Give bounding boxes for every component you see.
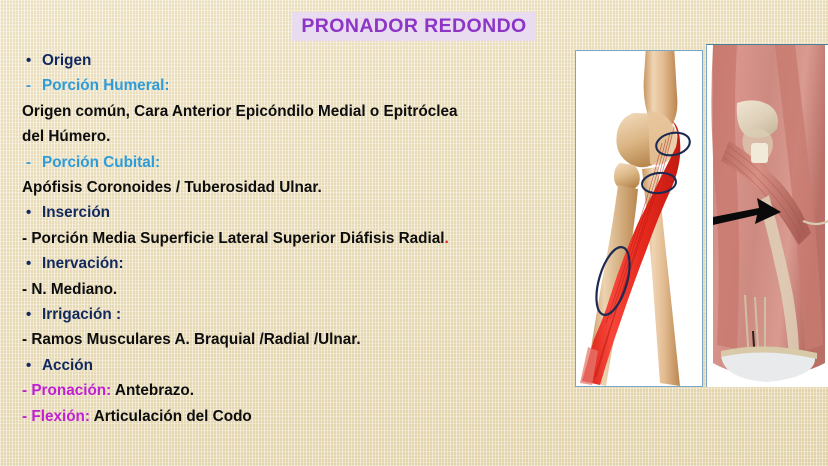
accion-flexion-label: - Flexión: — [22, 408, 90, 425]
text-accion-flexion: - Flexión: Articulación del Codo — [22, 404, 562, 429]
bone-diagram-svg — [576, 51, 702, 386]
body-text-accent-period: . — [444, 230, 448, 247]
text-inervacion-detail: - N. Mediano. — [22, 277, 562, 302]
forearm-dissection-photo — [706, 44, 828, 387]
list-item-label: Porción Humeral: — [42, 77, 170, 94]
page-title: PRONADOR REDONDO — [292, 12, 535, 41]
dissection-photo-svg — [707, 45, 828, 386]
bullet-dot-icon: • — [26, 302, 31, 327]
list-item-irrigacion: • Irrigación : — [22, 302, 562, 327]
body-text: - Ramos Musculares A. Braquial /Radial /… — [22, 331, 361, 348]
list-item-label: Inserción — [42, 204, 110, 221]
content-text-block: • Origen - Porción Humeral: Origen común… — [22, 48, 562, 429]
list-item-insercion: • Inserción — [22, 200, 562, 225]
bullet-dash-icon: - — [26, 73, 31, 98]
list-item-porcion-humeral: - Porción Humeral: — [22, 73, 562, 98]
list-item-inervacion: • Inervación: — [22, 251, 562, 276]
accion-flexion-value: Articulación del Codo — [90, 408, 252, 425]
title-container: PRONADOR REDONDO — [0, 12, 828, 41]
list-item-label: Acción — [42, 357, 93, 374]
text-apofisis-coronoides: Apófisis Coronoides / Tuberosidad Ulnar. — [22, 175, 562, 200]
list-item-label: Porción Cubital: — [42, 154, 160, 171]
retracted-tissue-flap — [751, 143, 768, 163]
pronator-teres-bone-diagram — [575, 50, 703, 387]
list-item-accion: • Acción — [22, 353, 562, 378]
bullet-dot-icon: • — [26, 200, 31, 225]
text-insercion-detail: - Porción Media Superficie Lateral Super… — [22, 226, 562, 251]
body-text: - Porción Media Superficie Lateral Super… — [22, 230, 444, 247]
list-item-label: Origen — [42, 52, 91, 69]
list-item-origen: • Origen — [22, 48, 562, 73]
body-text: Origen común, Cara Anterior Epicóndilo M… — [22, 103, 457, 120]
list-item-label: Irrigación : — [42, 306, 121, 323]
accion-pronacion-label: - Pronación: — [22, 382, 111, 399]
bullet-dot-icon: • — [26, 251, 31, 276]
slide-canvas: PRONADOR REDONDO • Origen - Porción Hume… — [0, 0, 828, 466]
text-origen-comun-line1: Origen común, Cara Anterior Epicóndilo M… — [22, 99, 562, 124]
body-text: - N. Mediano. — [22, 281, 117, 298]
body-text: Apófisis Coronoides / Tuberosidad Ulnar. — [22, 179, 322, 196]
bullet-dot-icon: • — [26, 48, 31, 73]
list-item-label: Inervación: — [42, 255, 124, 272]
list-item-porcion-cubital: - Porción Cubital: — [22, 150, 562, 175]
text-accion-pronacion: - Pronación: Antebrazo. — [22, 378, 562, 403]
text-irrigacion-detail: - Ramos Musculares A. Braquial /Radial /… — [22, 327, 562, 352]
body-text: del Húmero. — [22, 128, 110, 145]
text-origen-comun-line2: del Húmero. — [22, 124, 562, 149]
bullet-dash-icon: - — [26, 150, 31, 175]
bullet-dot-icon: • — [26, 353, 31, 378]
accion-pronacion-value: Antebrazo. — [111, 382, 194, 399]
